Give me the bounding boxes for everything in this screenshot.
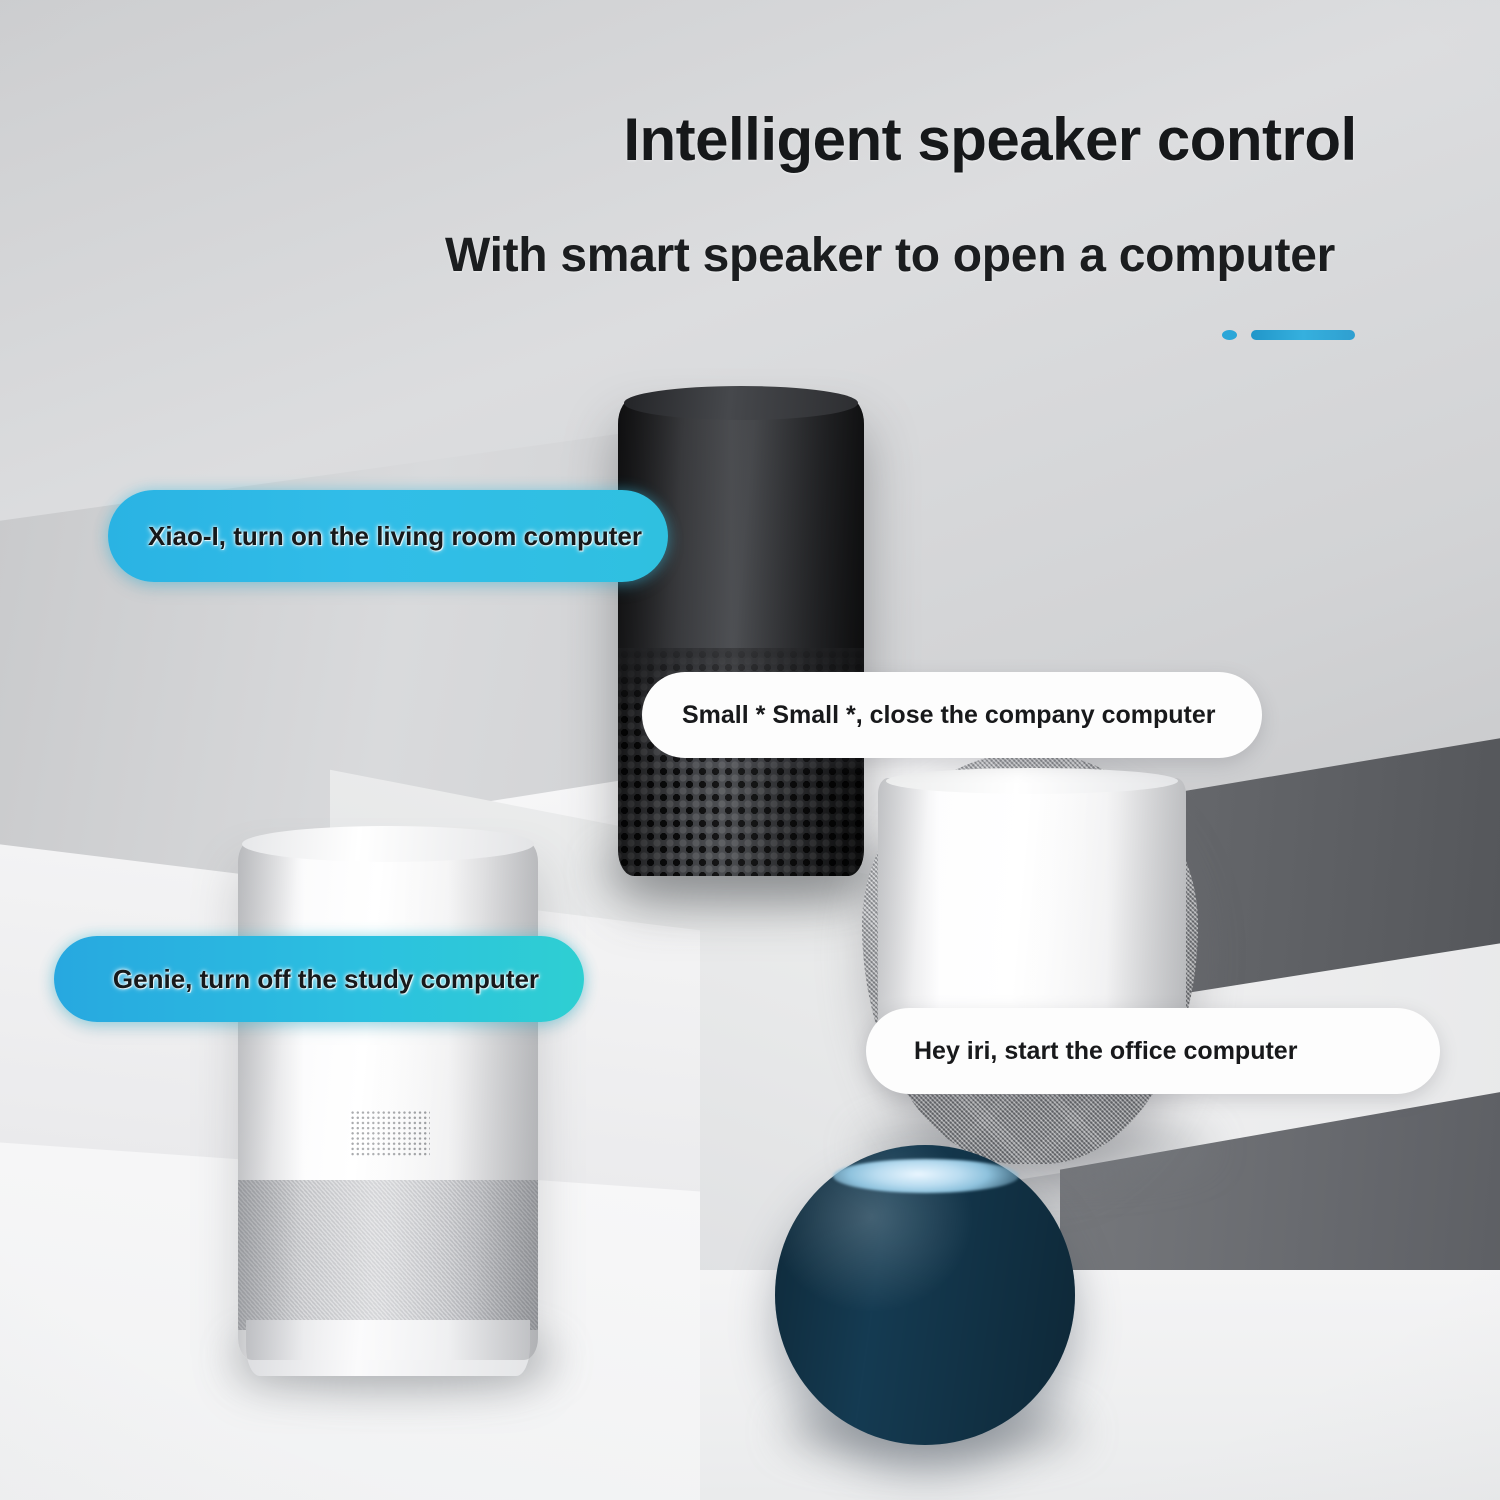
black-cylinder-speaker [618, 398, 864, 876]
callout-company: Small * Small *, close the company compu… [642, 672, 1262, 758]
black-speaker-shading [618, 398, 864, 876]
callout-study: Genie, turn off the study computer [54, 936, 584, 1022]
white-cylinder-front-top [886, 768, 1178, 794]
white-cylinder-front-body [878, 778, 1186, 1036]
accent-bar-icon [1251, 330, 1355, 340]
white-cylinder-speaker [238, 840, 538, 1360]
callout-office: Hey iri, start the office computer [866, 1008, 1440, 1094]
homepod-mini-touch-surface [833, 1159, 1019, 1193]
page-subtitle: With smart speaker to open a computer [360, 228, 1420, 283]
product-marketing-image: Intelligent speaker control With smart s… [0, 0, 1500, 1500]
white-speaker-shading [238, 840, 538, 1360]
callout-living-room: Xiao-I, turn on the living room computer [108, 490, 668, 582]
black-speaker-top [624, 386, 858, 420]
white-speaker-top [242, 826, 534, 862]
page-title: Intelligent speaker control [560, 105, 1420, 174]
accent-marker [1222, 330, 1355, 340]
blue-homepod-mini-speaker [775, 1145, 1075, 1445]
accent-dot-icon [1222, 330, 1237, 340]
white-cylinder-front-shading [878, 778, 1186, 1036]
